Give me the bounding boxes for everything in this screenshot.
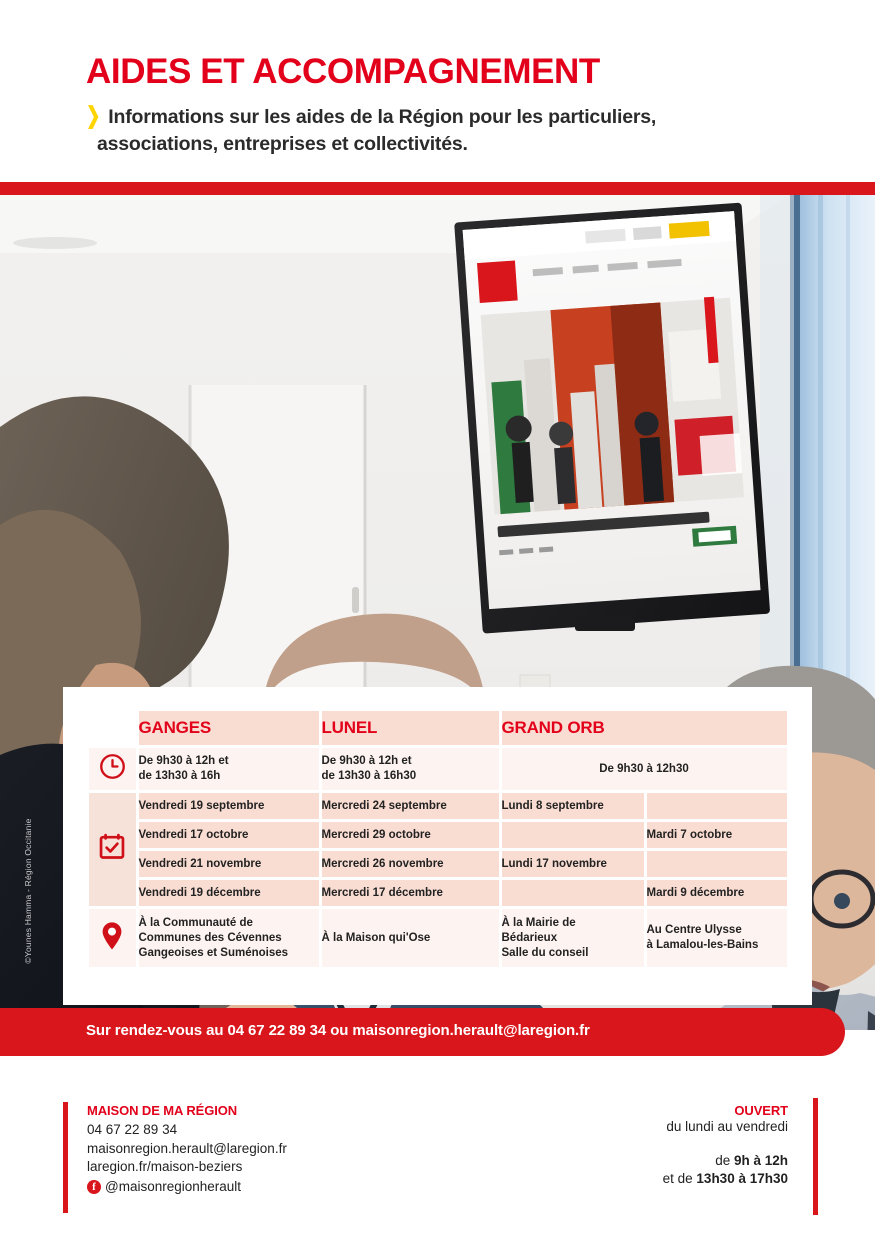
date-orb-b-1 xyxy=(645,792,788,821)
footer-hours-afternoon: et de 13h30 à 17h30 xyxy=(663,1170,788,1189)
footer-phone: 04 67 22 89 34 xyxy=(87,1121,287,1140)
table-row-date-3: Vendredi 21 novembre Mercredi 26 novembr… xyxy=(89,850,788,879)
date-orb-b-4: Mardi 9 décembre xyxy=(645,879,788,908)
date-ganges-3: Vendredi 21 novembre xyxy=(137,850,320,879)
footer-hours-block: OUVERT du lundi au vendredi de 9h à 12h … xyxy=(663,1103,788,1189)
date-ganges-4: Vendredi 19 décembre xyxy=(137,879,320,908)
footer-facebook-handle[interactable]: @maisonregionherault xyxy=(105,1178,241,1197)
table-row-locations: À la Communauté de Communes des Cévennes… xyxy=(89,908,788,969)
hours-ganges-line2: de 13h30 à 16h xyxy=(139,769,319,784)
location-ganges-line1: À la Communauté de xyxy=(139,916,319,931)
date-orb-b-3 xyxy=(645,850,788,879)
footer-hours-morning-prefix: de xyxy=(715,1153,734,1168)
location-orb-b-line1: Au Centre Ulysse xyxy=(647,923,787,938)
location-orb-b-line2: à Lamalou-les-Bains xyxy=(647,938,787,953)
table-header-row: GANGES LUNEL GRAND ORB xyxy=(89,711,788,747)
location-orb-a-line3: Salle du conseil xyxy=(502,946,644,961)
map-pin-icon xyxy=(99,921,125,951)
footer-open-days: du lundi au vendredi xyxy=(663,1118,788,1137)
footer-hours-afternoon-prefix: et de xyxy=(663,1171,697,1186)
footer-open-label: OUVERT xyxy=(663,1103,788,1118)
date-orb-a-4 xyxy=(500,879,645,908)
hours-lunel: De 9h30 à 12h et de 13h30 à 16h30 xyxy=(320,747,500,792)
header-red-divider xyxy=(0,182,875,195)
hours-lunel-line2: de 13h30 à 16h30 xyxy=(322,769,499,784)
hours-ganges-line1: De 9h30 à 12h et xyxy=(139,754,319,769)
footer-hours-morning-value: 9h à 12h xyxy=(734,1153,788,1168)
footer-left-red-bar xyxy=(63,1102,68,1213)
appointment-cta-text: Sur rendez-vous au 04 67 22 89 34 ou mai… xyxy=(86,1022,590,1039)
schedule-card: GANGES LUNEL GRAND ORB De 9h30 à 12h et … xyxy=(63,687,812,1005)
location-orb-a-line1: À la Mairie de xyxy=(502,916,644,931)
appointment-cta-banner: Sur rendez-vous au 04 67 22 89 34 ou mai… xyxy=(0,1008,845,1056)
column-header-grand-orb: GRAND ORB xyxy=(500,711,788,747)
location-ganges: À la Communauté de Communes des Cévennes… xyxy=(137,908,320,969)
table-row-date-1: Vendredi 19 septembre Mercredi 24 septem… xyxy=(89,792,788,821)
location-ganges-line2: Communes des Cévennes xyxy=(139,931,319,946)
date-lunel-4: Mercredi 17 décembre xyxy=(320,879,500,908)
chevron-right-icon: ❯ xyxy=(86,104,100,126)
column-header-ganges: GANGES xyxy=(137,711,320,747)
clock-icon-cell xyxy=(89,747,137,792)
footer-hours-spacer xyxy=(663,1137,788,1152)
page-title: AIDES ET ACCOMPAGNEMENT xyxy=(86,52,600,92)
footer-contact-block: MAISON DE MA RÉGION 04 67 22 89 34 maiso… xyxy=(87,1103,287,1196)
location-orb-a-line2: Bédarieux xyxy=(502,931,644,946)
footer-website[interactable]: laregion.fr/maison-beziers xyxy=(87,1158,287,1177)
column-header-lunel: LUNEL xyxy=(320,711,500,747)
page-subtitle: ❯Informations sur les aides de la Région… xyxy=(86,104,846,131)
page-header: AIDES ET ACCOMPAGNEMENT ❯Informations su… xyxy=(0,0,875,182)
table-row-date-2: Vendredi 17 octobre Mercredi 29 octobre … xyxy=(89,821,788,850)
hours-lunel-line1: De 9h30 à 12h et xyxy=(322,754,499,769)
footer-right-red-bar xyxy=(813,1098,818,1215)
footer-hours-morning: de 9h à 12h xyxy=(663,1152,788,1171)
page-subtitle-line2: associations, entreprises et collectivit… xyxy=(97,131,468,158)
date-orb-b-2: Mardi 7 octobre xyxy=(645,821,788,850)
footer-org-name: MAISON DE MA RÉGION xyxy=(87,1103,287,1118)
hours-ganges: De 9h30 à 12h et de 13h30 à 16h xyxy=(137,747,320,792)
clock-icon xyxy=(99,753,126,780)
location-lunel: À la Maison qui'Ose xyxy=(320,908,500,969)
footer-email[interactable]: maisonregion.herault@laregion.fr xyxy=(87,1140,287,1159)
date-orb-a-2 xyxy=(500,821,645,850)
header-icon-spacer xyxy=(89,711,137,747)
location-orb-b: Au Centre Ulysse à Lamalou-les-Bains xyxy=(645,908,788,969)
date-orb-a-3: Lundi 17 novembre xyxy=(500,850,645,879)
page-footer: MAISON DE MA RÉGION 04 67 22 89 34 maiso… xyxy=(0,1090,875,1225)
date-ganges-1: Vendredi 19 septembre xyxy=(137,792,320,821)
date-lunel-2: Mercredi 29 octobre xyxy=(320,821,500,850)
calendar-check-icon xyxy=(98,833,126,861)
map-pin-icon-cell xyxy=(89,908,137,969)
footer-facebook-row[interactable]: f @maisonregionherault xyxy=(87,1178,287,1197)
footer-hours-afternoon-value: 13h30 à 17h30 xyxy=(696,1171,788,1186)
date-orb-a-1: Lundi 8 septembre xyxy=(500,792,645,821)
table-row-hours: De 9h30 à 12h et de 13h30 à 16h De 9h30 … xyxy=(89,747,788,792)
facebook-icon[interactable]: f xyxy=(87,1180,101,1194)
page-subtitle-line1: Informations sur les aides de la Région … xyxy=(108,106,656,128)
location-orb-a: À la Mairie de Bédarieux Salle du consei… xyxy=(500,908,645,969)
location-lunel-line1: À la Maison qui'Ose xyxy=(322,931,499,946)
calendar-icon-cell xyxy=(89,792,137,908)
date-ganges-2: Vendredi 17 octobre xyxy=(137,821,320,850)
date-lunel-3: Mercredi 26 novembre xyxy=(320,850,500,879)
hours-grand-orb: De 9h30 à 12h30 xyxy=(500,747,788,792)
photo-credit: ©Younes Hamma - Région Occitanie xyxy=(23,811,33,971)
table-row-date-4: Vendredi 19 décembre Mercredi 17 décembr… xyxy=(89,879,788,908)
date-lunel-1: Mercredi 24 septembre xyxy=(320,792,500,821)
schedule-table: GANGES LUNEL GRAND ORB De 9h30 à 12h et … xyxy=(89,711,790,970)
location-ganges-line3: Gangeoises et Suménoises xyxy=(139,946,319,961)
